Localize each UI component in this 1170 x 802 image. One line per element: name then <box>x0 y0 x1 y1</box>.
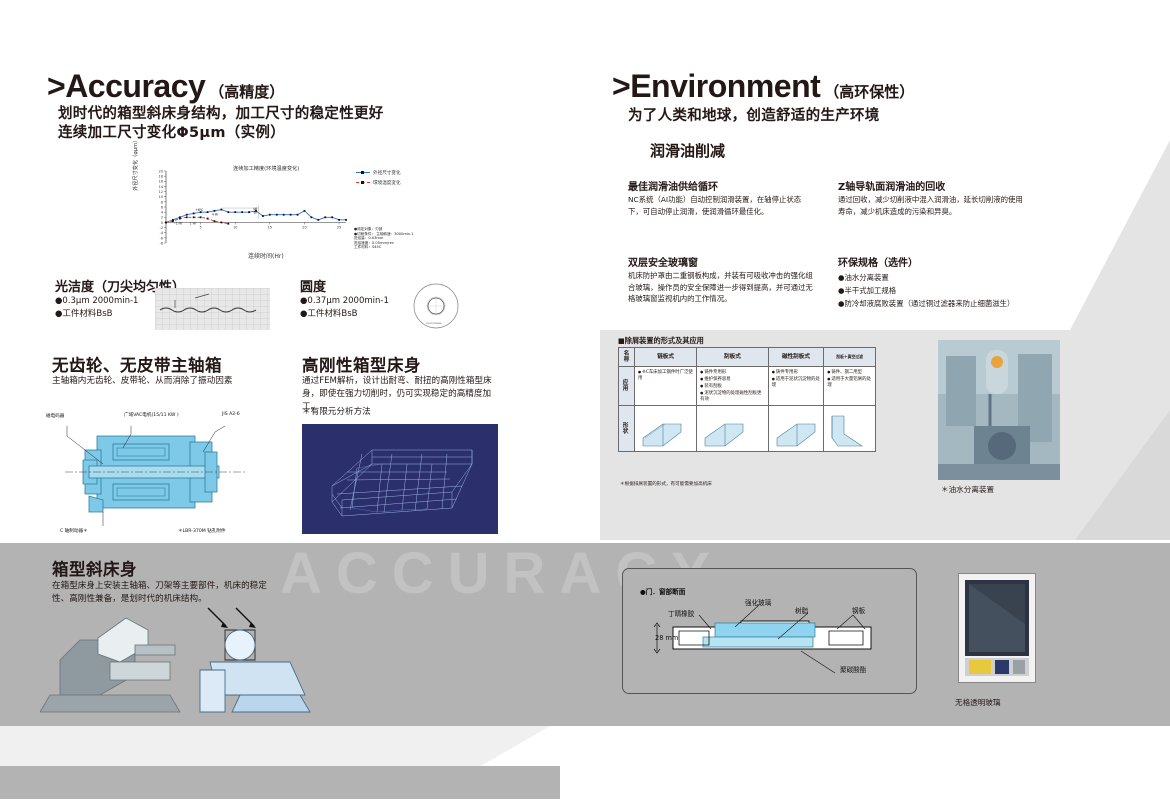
oil-separator-caption: ＊油水分离装置 <box>941 484 994 495</box>
env-block-3-item-0: ●油水分离装置 <box>838 272 889 284</box>
conveyor-note: ＊根据排屑装置的形式，有可能需要加高机床 <box>620 481 712 487</box>
env-block-2-head: 双层安全玻璃窗 <box>628 254 698 269</box>
accuracy-title-cn: （高精度） <box>209 81 284 102</box>
item-1-head: 圆度 <box>300 276 326 295</box>
chart-notes: ●测定对象：刃部 ●切削条件： 主轴转速：3000min-1 进给量：0.03m… <box>354 227 414 250</box>
svg-text:-8: -8 <box>160 241 163 245</box>
item-0-line-1: ●工件材料BsB <box>55 308 113 320</box>
conveyor-shape-1 <box>697 406 769 452</box>
item-1-line-1: ●工件材料BsB <box>300 308 358 320</box>
svg-text:10: 10 <box>159 195 163 199</box>
svg-text:16: 16 <box>159 180 163 184</box>
conveyor-header-row: 名称 链板式 刮板式 磁性刮板式 刮板＋真空过滤 <box>619 348 876 367</box>
block-0-body: 主轴箱内无齿轮、皮带轮、从而消除了振动因素 <box>52 375 302 388</box>
svg-text:roundness: roundness <box>426 321 442 325</box>
env-block-0-body: NC系统（AI功能）自动控制润滑装置，在轴停止状态下，可自动停止润滑，使润滑循环… <box>628 194 813 217</box>
svg-text:6: 6 <box>161 205 163 209</box>
conveyor-shape-2 <box>768 406 823 452</box>
door-label-resin: 树脂 <box>795 605 808 615</box>
spindle-label-motor: 广域VAC电机(15/11 KW ) <box>124 412 179 418</box>
legend-item-0: 外径尺寸变化 <box>356 170 401 176</box>
conveyor-row-application: 应用 ※C车床加工钢件时广泛使用 铸件专用形 维护保养容易 装有刮板 泥状沉淀物… <box>619 367 876 406</box>
item-0-line-0: ●0.3μm 2000min-1 <box>55 295 138 307</box>
accuracy-title-en: >Accuracy <box>47 68 205 105</box>
surface-finish-trace-image <box>155 288 270 330</box>
svg-text:0: 0 <box>161 221 163 225</box>
conveyor-row-label-1: 形状 <box>619 406 635 452</box>
bottom-white-corner <box>560 766 1170 802</box>
oil-separator-photo <box>938 340 1060 480</box>
conveyor-cell-0-0: ※C车床加工钢件时广泛使用 <box>635 367 697 406</box>
conveyor-row-label-0: 应用 <box>619 367 635 406</box>
env-block-3-item-2: ●防冷却液腐败装置（通过铜过滤器来防止细菌滋生） <box>838 298 1014 310</box>
chart-title: 连续加工精度(环境温度变化) <box>233 165 299 172</box>
chart-x-axis-label: 连续时间(Hr) <box>248 251 284 260</box>
conveyor-col-2: 刮板式 <box>697 348 769 367</box>
machine-silhouette-left <box>40 600 370 740</box>
conveyor-col-3: 磁性刮板式 <box>768 348 823 367</box>
spindle-diagram <box>45 408 293 536</box>
svg-text:5: 5 <box>200 225 202 229</box>
conveyor-table-caption: ■除屑装置的形式及其应用 <box>618 336 704 346</box>
door-label-steel: 钢板 <box>852 605 865 615</box>
conveyor-row-shape: 形状 <box>619 406 876 452</box>
svg-text:10: 10 <box>233 225 237 229</box>
spindle-label-encoder: 磁电码器 <box>46 413 64 419</box>
fem-analysis-image <box>302 424 498 534</box>
svg-text:15: 15 <box>268 225 272 229</box>
door-label-rubber: 丁晴橡胶 <box>668 608 694 618</box>
env-block-1-body: 通过回收，减少切削液中混入润滑油，延长切削液的使用寿命，减少机床造成的污染和异臭… <box>838 194 1028 217</box>
environment-section-title: 润滑油削减 <box>650 140 725 161</box>
legend-item-1: 環境温度変化 <box>356 180 401 186</box>
svg-text:14: 14 <box>159 185 163 189</box>
chart-plot: 20181614121086420-2-4-6-8510152025+8℃-1 … <box>138 163 453 268</box>
accuracy-chart: 连续加工精度(环境温度变化) 外径尺寸变化（φμm） 连续时间(Hr) 2018… <box>138 163 453 268</box>
svg-text:-6: -6 <box>160 236 163 240</box>
svg-text:休息: 休息 <box>253 207 258 213</box>
roundness-chart-image: roundness <box>412 282 460 330</box>
env-block-2-body: 机床防护罩由二重钢板构成，并装有可吸收冲击的强化组合玻璃，操作员的安全保障进一步… <box>628 270 813 305</box>
block-0-head: 无齿轮、无皮带主轴箱 <box>52 352 222 376</box>
block-2-body: 在箱型床身上安装主轴箱、刀架等主要部件，机床的稳定性、高刚性兼备，是划时代的机床… <box>52 580 282 606</box>
spindle-label-brake: C 轴制动器＊ <box>60 528 88 534</box>
environment-heading: >Environment（高环保性） <box>612 68 914 105</box>
block-2-head: 箱型斜床身 <box>52 556 137 580</box>
chart-y-axis-label: 外径尺寸变化（φμm） <box>132 138 139 191</box>
svg-text:-4: -4 <box>160 231 163 235</box>
environment-title-cn: （高环保性） <box>824 81 914 102</box>
env-block-3-head: 环保规格（选件） <box>838 254 918 269</box>
svg-text:8: 8 <box>161 200 163 204</box>
conveyor-table: 名称 链板式 刮板式 磁性刮板式 刮板＋真空过滤 应用 ※C车床加工钢件时广泛使… <box>618 347 876 452</box>
env-block-0-head: 最佳润滑油供给循环 <box>628 178 718 193</box>
svg-text:25: 25 <box>337 225 341 229</box>
svg-text:20: 20 <box>159 169 163 173</box>
accuracy-subtitle-2: 连续加工尺寸变化Φ5μm（实例） <box>58 124 285 143</box>
conveyor-shape-0 <box>635 406 697 452</box>
svg-text:18: 18 <box>159 175 163 179</box>
block-1-note: ＊有限元分析方法 <box>302 406 371 419</box>
conveyor-col-4: 刮板＋真空过滤 <box>824 348 876 367</box>
env-block-1-head: Z轴导轨面润滑油的回收 <box>838 178 945 193</box>
spindle-label-lbr: ＊LBR-370M 钻孔附件 <box>178 528 226 534</box>
conveyor-col-1: 链板式 <box>635 348 697 367</box>
svg-text:4: 4 <box>161 211 163 215</box>
svg-text:1 Hr: 1 Hr <box>190 222 197 226</box>
clear-glass-photo <box>958 573 1036 683</box>
item-1-line-0: ●0.37μm 2000min-1 <box>300 295 389 307</box>
block-1-head: 高刚性箱型床身 <box>302 352 421 376</box>
svg-text:12: 12 <box>159 190 163 194</box>
svg-text:4 Hr: 4 Hr <box>212 213 219 217</box>
door-label-poly: 聚碳酸酯 <box>840 664 866 674</box>
env-block-3-item-1: ●半干式加工规格 <box>838 285 896 297</box>
accuracy-heading: >Accuracy（高精度） <box>47 68 284 105</box>
chart-note-4: 工件材料：S45C <box>354 245 414 250</box>
conveyor-cell-0-2: 铸件专用形 适用于泥状沉淀物的处理 <box>768 367 823 406</box>
svg-text:20: 20 <box>302 225 306 229</box>
accuracy-subtitle-1: 划时代的箱型斜床身结构，加工尺寸的稳定性更好 <box>58 105 384 124</box>
environment-title-en: >Environment <box>612 68 820 105</box>
conveyor-col-0: 名称 <box>619 348 635 367</box>
conveyor-shape-3 <box>824 406 876 452</box>
svg-text:2: 2 <box>161 216 163 220</box>
spindle-label-jis: JIS A2-6 <box>222 412 240 417</box>
svg-text:+8℃: +8℃ <box>195 208 204 212</box>
svg-text:-2: -2 <box>160 226 163 230</box>
conveyor-cell-0-1: 铸件专用形 维护保养容易 装有刮板 泥状沉淀物的处理磁性刮板更有效 <box>697 367 769 406</box>
environment-subtitle: 为了人类和地球，创造舒适的生产环境 <box>628 107 880 126</box>
clear-glass-caption: 无格透明玻璃 <box>955 697 1001 708</box>
door-label-dimension: 28 mm <box>655 634 678 642</box>
chart-legend: 外径尺寸变化 環境温度変化 <box>356 170 401 190</box>
svg-text:-1 Hr: -1 Hr <box>174 222 183 226</box>
door-label-glass: 强化玻璃 <box>745 597 771 607</box>
door-diagram-title: ●门．窗部断面 <box>640 586 685 596</box>
conveyor-cell-0-3: 铸件、钢二用型 适用于大量铝屑的处理 <box>824 367 876 406</box>
